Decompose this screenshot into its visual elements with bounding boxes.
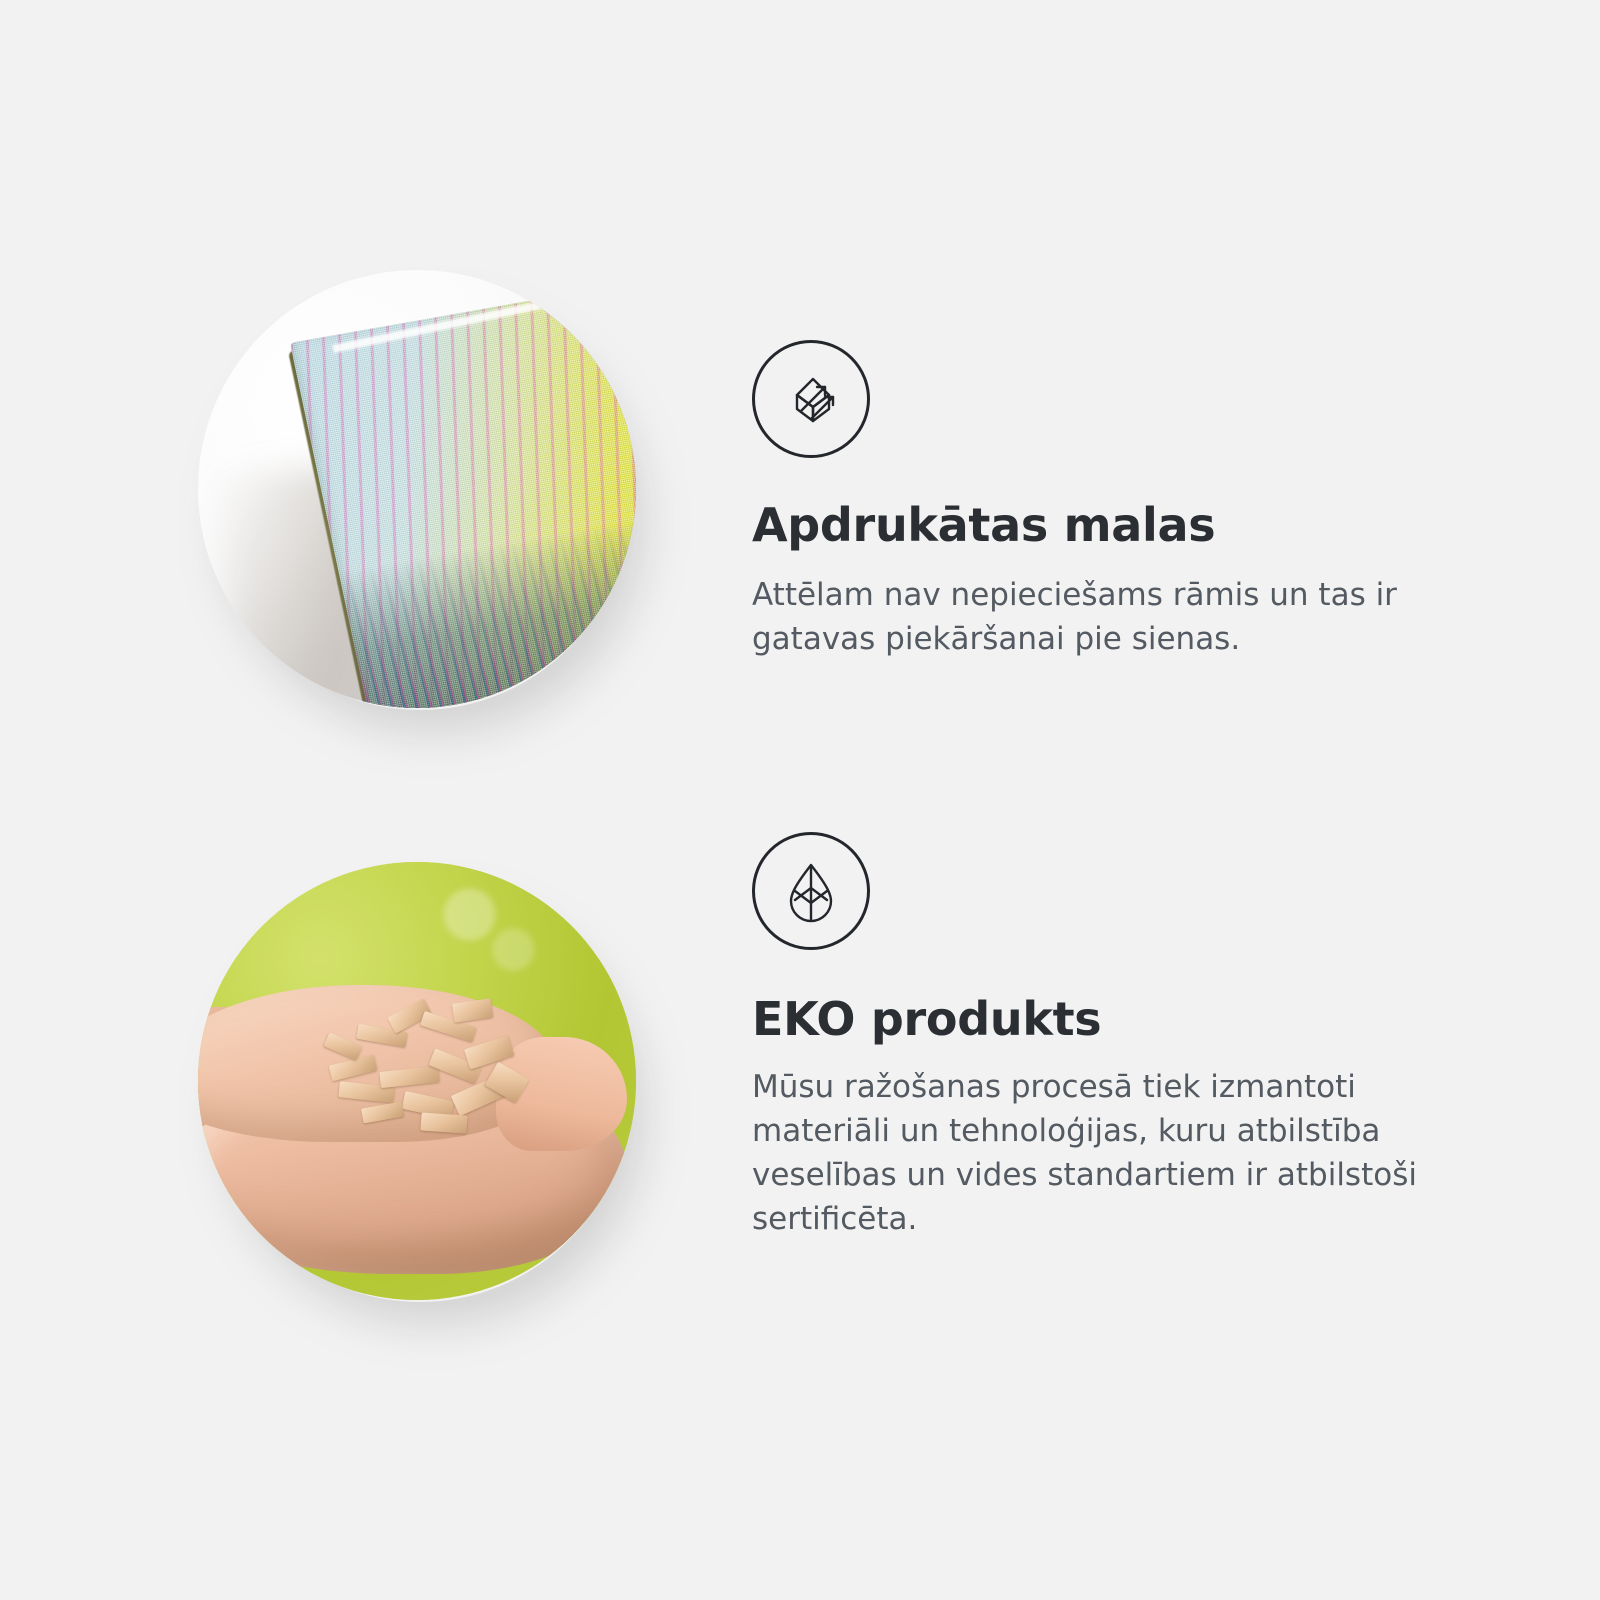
feature-printed-edges: Apdrukātas malas Attēlam nav nepieciešam… [0, 230, 1600, 790]
product-features-page: Apdrukātas malas Attēlam nav nepieciešam… [0, 0, 1600, 1600]
printed-edges-icon [752, 340, 870, 458]
canvas-scene [198, 270, 636, 708]
feature-2-title: EKO produkts [752, 994, 1492, 1045]
feature-eco-product: EKO produkts Mūsu ražošanas procesā tiek… [0, 822, 1600, 1382]
canvas-corner-photo [198, 270, 636, 708]
eco-scene [198, 862, 636, 1300]
feature-1-title: Apdrukātas malas [752, 500, 1492, 551]
wood-chips-pile [321, 998, 549, 1147]
feature-2-copy: EKO produkts Mūsu ražošanas procesā tiek… [752, 832, 1492, 1241]
feature-1-copy: Apdrukātas malas Attēlam nav nepieciešam… [752, 340, 1492, 661]
feature-1-description: Attēlam nav nepieciešams rāmis un tas ir… [752, 573, 1468, 661]
leaf-icon [752, 832, 870, 950]
hands-with-wood-chips-photo [198, 862, 636, 1300]
feature-2-description: Mūsu ražošanas procesā tiek izmantoti ma… [752, 1065, 1468, 1241]
